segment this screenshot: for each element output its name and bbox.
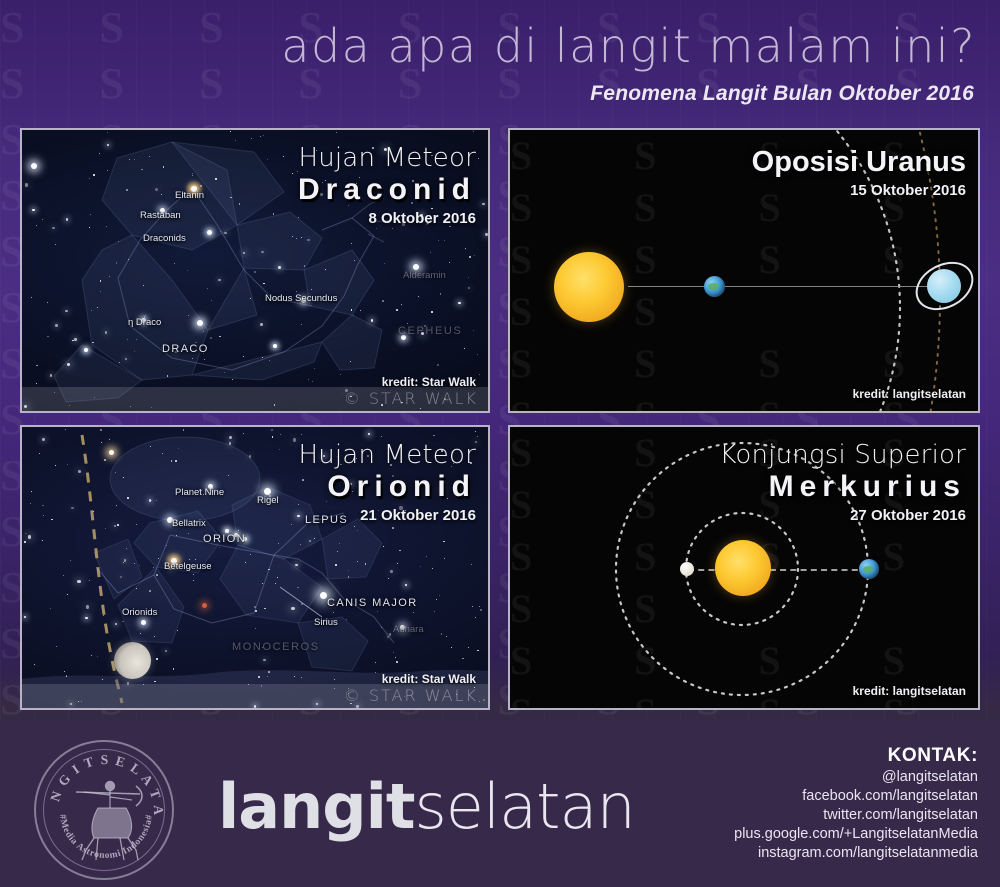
langitselatan-logo[interactable]: L A N G I T S E L A T A N #Media Astrono…: [34, 740, 174, 880]
panel-draconid[interactable]: EltaninRastabanDraconidsNodus Secundusη …: [20, 128, 490, 413]
panel-orionid[interactable]: Planet NineRigelBellatrixLEPUSORIONBetel…: [20, 425, 490, 710]
star-label-alderamin: Alderamin: [403, 270, 446, 281]
star-label-rigel: Rigel: [257, 495, 279, 506]
wordmark-bold: langit: [218, 770, 415, 843]
panel-title-merkurius: Konjungsi Superior Merkurius 27 Oktober …: [719, 441, 966, 525]
mercury-body: [680, 562, 694, 576]
panel-title-draconid: Hujan Meteor Draconid 8 Oktober 2016: [298, 144, 476, 228]
panel-date: 8 Oktober 2016: [298, 209, 476, 228]
panel-headline: Oposisi Uranus: [752, 145, 966, 179]
contact-twitter[interactable]: twitter.com/langitselatan: [734, 806, 978, 825]
panel-date: 15 Oktober 2016: [752, 181, 966, 200]
contact-heading: KONTAK:: [734, 744, 978, 768]
star-label-canis-major: CANIS MAJOR: [327, 597, 418, 609]
panel-title-uranus: Oposisi Uranus 15 Oktober 2016: [752, 144, 966, 200]
page-subtitle: Fenomena Langit Bulan Oktober 2016: [590, 82, 974, 106]
star-label-adhara: Adhara: [393, 624, 424, 635]
panel-kicker: Konjungsi Superior: [719, 441, 966, 469]
moon-body: [114, 642, 151, 679]
panel-credit-orionid: kredit: Star Walk: [382, 672, 476, 686]
star-corner-bright: [31, 163, 37, 169]
logo-artwork: L A N G I T S E L A T A N #Media Astrono…: [36, 742, 176, 882]
brand-wordmark: langitselatan: [218, 774, 635, 840]
sun-body: [715, 540, 771, 596]
star-label-bellatrix: Bellatrix: [172, 518, 206, 529]
star-draconids-radiant: [207, 230, 212, 235]
panel-kicker: Hujan Meteor: [298, 144, 476, 172]
star-label-draco: DRACO: [162, 343, 209, 355]
panel-headline: Merkurius: [719, 470, 966, 504]
starwalk-watermark-text: © STAR WALK: [344, 686, 478, 705]
starwalk-watermark-bar: © STAR WALK: [22, 684, 488, 708]
logo-top-text: L A N G I T S E L A T A N: [36, 742, 166, 816]
contact-handle[interactable]: @langitselatan: [734, 768, 978, 787]
star-label-orion: ORION: [203, 533, 246, 545]
panel-credit-uranus: kredit: langitselatan: [853, 387, 966, 401]
starwalk-watermark-text: © STAR WALK: [344, 389, 478, 408]
poster-header: ada apa di langit malam ini? Fenomena La…: [0, 0, 1000, 124]
star-label-orionids: Orionids: [122, 607, 157, 618]
contact-instagram[interactable]: instagram.com/langitselatanmedia: [734, 844, 978, 863]
star-label-planet-nine: Planet Nine: [175, 487, 224, 498]
starwalk-watermark-bar: © STAR WALK: [22, 387, 488, 411]
sun-body: [554, 252, 624, 322]
poster-root: S S S S S S S S S S S S S S S S S S S S …: [0, 0, 1000, 887]
wordmark-light: selatan: [415, 770, 635, 843]
panel-credit-draconid: kredit: Star Walk: [382, 375, 476, 389]
star-label-nodus-secundus: Nodus Secundus: [265, 293, 337, 304]
star-label-rastaban: Rastaban: [140, 210, 181, 221]
panel-date: 27 Oktober 2016: [719, 506, 966, 525]
panel-headline: Orionid: [298, 470, 476, 504]
star-draco-b: [273, 344, 277, 348]
star-draco-c: [84, 348, 88, 352]
panel-oposisi-uranus[interactable]: S S S S S S S S S S S S S S S S S S S S …: [508, 128, 980, 413]
star-label-eltanin: Eltanin: [175, 190, 204, 201]
contact-googleplus[interactable]: plus.google.com/+LangitselatanMedia: [734, 825, 978, 844]
star-label-betelgeuse: Betelgeuse: [164, 561, 212, 572]
poster-footer: L A N G I T S E L A T A N #Media Astrono…: [0, 720, 1000, 887]
star-bright-draco: [197, 320, 203, 326]
star-label-cepheus: CEPHEUS: [398, 325, 462, 337]
star-label--draco: η Draco: [128, 317, 161, 328]
earth-body: [704, 276, 725, 297]
contact-facebook[interactable]: facebook.com/langitselatan: [734, 787, 978, 806]
panel-kicker: Hujan Meteor: [298, 441, 476, 469]
earth-body: [859, 559, 879, 579]
star-label-sirius: Sirius: [314, 617, 338, 628]
star-label-draconids: Draconids: [143, 233, 186, 244]
panel-credit-merkurius: kredit: langitselatan: [853, 684, 966, 698]
contact-block: KONTAK: @langitselatan facebook.com/lang…: [734, 744, 978, 863]
panel-konjungsi-merkurius[interactable]: S S S S S S S S S S S S S S S S S S S S …: [508, 425, 980, 710]
opposition-alignment-line: [628, 286, 958, 287]
star-label-monoceros: MONOCEROS: [232, 641, 320, 653]
panel-date: 21 Oktober 2016: [298, 506, 476, 525]
panel-headline: Draconid: [298, 173, 476, 207]
page-title: ada apa di langit malam ini?: [281, 20, 976, 72]
panel-title-orionid: Hujan Meteor Orionid 21 Oktober 2016: [298, 441, 476, 525]
